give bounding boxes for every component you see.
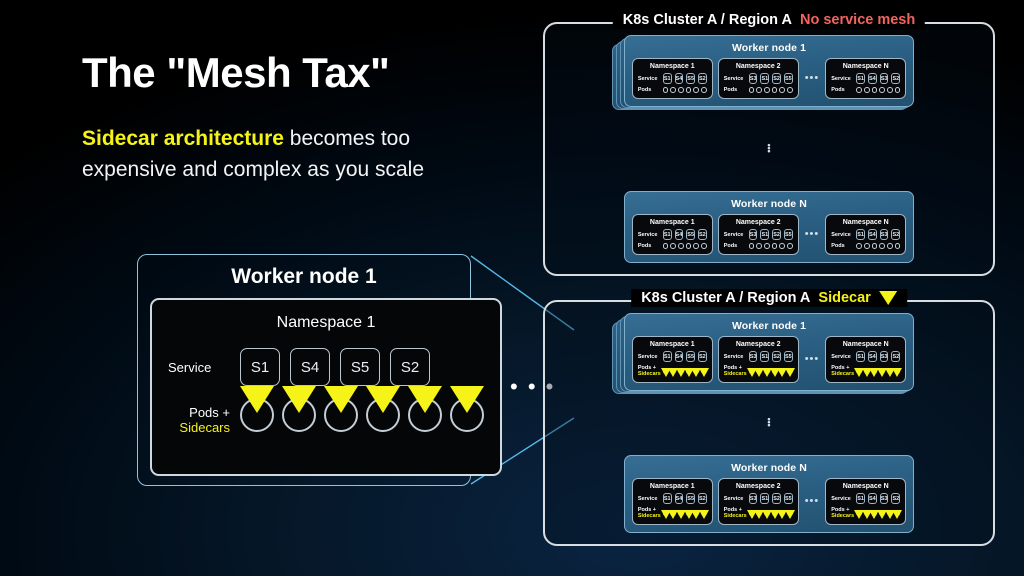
cluster-title: K8s Cluster A / Region A xyxy=(641,290,810,306)
service-chip[interactable]: S1 xyxy=(663,493,672,504)
pod-with-sidecar xyxy=(787,510,793,516)
namespace-title: Namespace N xyxy=(831,63,900,70)
pod xyxy=(764,87,770,93)
pods-label: Pods xyxy=(638,243,660,249)
service-chip[interactable]: S4 xyxy=(290,348,330,386)
service-chip[interactable]: S1 xyxy=(760,493,769,504)
service-chip[interactable]: S5 xyxy=(686,229,695,240)
service-row: ServiceS1S4S5S2 xyxy=(638,229,707,240)
cluster-tag: No service mesh xyxy=(800,12,915,28)
pod-with-sidecar xyxy=(366,398,400,432)
service-chip[interactable]: S2 xyxy=(891,351,900,362)
pods-label: Pods xyxy=(724,87,746,93)
pod xyxy=(693,243,699,249)
cluster-frame: K8s Cluster A / Region ANo service meshW… xyxy=(543,22,995,276)
pods-label-sidecars: Sidecars xyxy=(638,513,660,519)
detail-namespace-title: Namespace 1 xyxy=(168,314,484,332)
worker-node-title: Worker node 1 xyxy=(632,318,906,336)
subtitle: Sidecar architecture becomes too expensi… xyxy=(82,124,472,185)
namespace-title: Namespace N xyxy=(831,483,900,490)
cluster-label: K8s Cluster A / Region ANo service mesh xyxy=(613,11,925,29)
cluster-label: K8s Cluster A / Region ASidecar xyxy=(631,289,907,307)
service-chip[interactable]: S2 xyxy=(772,73,781,84)
service-chip[interactable]: S4 xyxy=(868,351,877,362)
namespace-box: Namespace 1ServiceS1S4S5S2Pods +Sidecars xyxy=(632,336,713,383)
pod xyxy=(686,87,692,93)
namespace-title: Namespace N xyxy=(831,219,900,226)
service-label: Service xyxy=(724,232,746,238)
namespace-box: Namespace 2ServiceS3S1S2S5Pods xyxy=(718,58,799,99)
pod-list xyxy=(663,87,707,93)
service-chip[interactable]: S1 xyxy=(856,229,865,240)
pod xyxy=(879,243,885,249)
detail-service-label: Service xyxy=(168,360,230,375)
service-chip[interactable]: S3 xyxy=(880,229,889,240)
pod-with-sidecar xyxy=(895,510,901,516)
pods-label: Pods xyxy=(831,243,853,249)
service-chip[interactable]: S2 xyxy=(772,493,781,504)
pod-with-sidecar xyxy=(240,398,274,432)
cluster-title: K8s Cluster A / Region A xyxy=(623,12,792,28)
pods-label: Pods xyxy=(831,87,853,93)
pod xyxy=(787,87,793,93)
detail-callout-panel: Worker node 1 Namespace 1 Service S1 S4 … xyxy=(137,254,471,486)
service-chip[interactable]: S1 xyxy=(663,351,672,362)
service-chip[interactable]: S1 xyxy=(663,73,672,84)
namespace-title: Namespace 1 xyxy=(638,219,707,226)
pod-list xyxy=(749,87,793,93)
service-chip[interactable]: S5 xyxy=(340,348,380,386)
service-row: ServiceS1S4S3S2 xyxy=(831,229,900,240)
cluster-tag: Sidecar xyxy=(818,290,870,306)
service-chip[interactable]: S4 xyxy=(675,493,684,504)
namespace-row: Namespace 1ServiceS1S4S5S2Pods +Sidecars… xyxy=(632,478,906,525)
pods-row: Pods xyxy=(831,243,900,249)
pod xyxy=(887,243,893,249)
service-chip[interactable]: S1 xyxy=(760,73,769,84)
service-chip[interactable]: S5 xyxy=(784,229,793,240)
service-row: ServiceS1S4S3S2 xyxy=(831,351,900,362)
service-label: Service xyxy=(831,232,853,238)
service-row: ServiceS1S4S3S2 xyxy=(831,73,900,84)
service-label: Service xyxy=(724,354,746,360)
service-chip[interactable]: S3 xyxy=(880,351,889,362)
service-chip[interactable]: S2 xyxy=(390,348,430,386)
pod xyxy=(779,243,785,249)
pod-list xyxy=(856,243,900,249)
service-chip[interactable]: S4 xyxy=(868,493,877,504)
cluster-frame: K8s Cluster A / Region ASidecarWorker no… xyxy=(543,300,995,546)
pod xyxy=(693,87,699,93)
pod-list xyxy=(856,368,900,374)
pods-label-sidecars: Sidecars xyxy=(168,421,230,436)
namespace-title: Namespace 1 xyxy=(638,341,707,348)
worker-node-overflow-dots: ••• xyxy=(559,413,979,433)
detail-namespace-box: Namespace 1 Service S1 S4 S5 S2 Pods +Si… xyxy=(150,298,502,476)
pod-with-sidecar xyxy=(701,510,707,516)
subtitle-highlight: Sidecar architecture xyxy=(82,127,284,150)
title-block: The "Mesh Tax" Sidecar architecture beco… xyxy=(82,50,502,185)
service-label: Service xyxy=(638,496,660,502)
service-chip[interactable]: S4 xyxy=(868,229,877,240)
pods-label: Pods +Sidecars xyxy=(724,507,746,519)
service-row: ServiceS1S4S3S2 xyxy=(831,493,900,504)
namespace-overflow-dots: ••• xyxy=(804,496,821,507)
pods-row: Pods xyxy=(831,87,900,93)
service-chip[interactable]: S5 xyxy=(686,493,695,504)
detail-pods-row: Pods +Sidecars xyxy=(168,398,484,436)
pods-label-sidecars: Sidecars xyxy=(638,371,660,377)
pod-with-sidecar xyxy=(324,398,358,432)
worker-node-panel: Worker node 1Namespace 1ServiceS1S4S5S2P… xyxy=(624,35,914,107)
namespace-box: Namespace NServiceS1S4S3S2Pods xyxy=(825,214,906,255)
pods-label-sidecars: Sidecars xyxy=(724,371,746,377)
pods-row: Pods +Sidecars xyxy=(724,365,793,377)
pod-list xyxy=(856,510,900,516)
service-chip[interactable]: S1 xyxy=(856,73,865,84)
namespace-title: Namespace 1 xyxy=(638,63,707,70)
namespace-row: Namespace 1ServiceS1S4S5S2PodsNamespace … xyxy=(632,58,906,99)
service-chip[interactable]: S2 xyxy=(772,229,781,240)
service-chip[interactable]: S5 xyxy=(784,493,793,504)
pod xyxy=(772,87,778,93)
pod xyxy=(887,87,893,93)
namespace-row: Namespace 1ServiceS1S4S5S2PodsNamespace … xyxy=(632,214,906,255)
namespace-box: Namespace 2ServiceS3S1S2S5Pods +Sidecars xyxy=(718,336,799,383)
pods-label: Pods +Sidecars xyxy=(638,365,660,377)
service-row: ServiceS3S1S2S5 xyxy=(724,493,793,504)
pod xyxy=(879,87,885,93)
namespace-box: Namespace 1ServiceS1S4S5S2Pods xyxy=(632,214,713,255)
pod-with-sidecar xyxy=(787,368,793,374)
namespace-box: Namespace 1ServiceS1S4S5S2Pods xyxy=(632,58,713,99)
pods-label: Pods xyxy=(638,87,660,93)
pod xyxy=(772,243,778,249)
pod-with-sidecar xyxy=(450,398,484,432)
pods-label: Pods +Sidecars xyxy=(831,507,853,519)
detail-pod-list xyxy=(240,398,484,432)
service-chip[interactable]: S1 xyxy=(240,348,280,386)
namespace-title: Namespace 2 xyxy=(724,341,793,348)
worker-node-title: Worker node 1 xyxy=(632,40,906,58)
service-label: Service xyxy=(638,232,660,238)
pod xyxy=(670,87,676,93)
service-chip[interactable]: S1 xyxy=(856,351,865,362)
service-label: Service xyxy=(638,354,660,360)
service-chip[interactable]: S2 xyxy=(772,351,781,362)
service-label: Service xyxy=(831,354,853,360)
service-chip[interactable]: S5 xyxy=(686,73,695,84)
page-title: The "Mesh Tax" xyxy=(82,50,502,96)
service-label: Service xyxy=(638,76,660,82)
worker-node-panel: Worker node NNamespace 1ServiceS1S4S5S2P… xyxy=(624,455,914,533)
namespace-overflow-dots: ••• xyxy=(804,229,821,240)
service-chip[interactable]: S3 xyxy=(749,229,758,240)
pods-row: Pods +Sidecars xyxy=(831,507,900,519)
namespace-box: Namespace 1ServiceS1S4S5S2Pods +Sidecars xyxy=(632,478,713,525)
service-chip[interactable]: S2 xyxy=(698,493,707,504)
service-label: Service xyxy=(831,76,853,82)
pod xyxy=(663,243,669,249)
pods-label-sidecars: Sidecars xyxy=(724,513,746,519)
pod-list xyxy=(749,510,793,516)
pod xyxy=(701,87,707,93)
triangle-down-icon xyxy=(879,291,897,305)
pod xyxy=(749,87,755,93)
service-chip[interactable]: S3 xyxy=(749,493,758,504)
detail-node-title: Worker node 1 xyxy=(150,265,458,298)
pod xyxy=(787,243,793,249)
worker-node-wrapper: Worker node NNamespace 1ServiceS1S4S5S2P… xyxy=(624,455,914,533)
service-row: ServiceS3S1S2S5 xyxy=(724,229,793,240)
service-label: Service xyxy=(831,496,853,502)
pod xyxy=(678,87,684,93)
pod-with-sidecar xyxy=(895,368,901,374)
pod-list xyxy=(663,243,707,249)
worker-node-wrapper: Worker node NNamespace 1ServiceS1S4S5S2P… xyxy=(624,191,914,263)
pod xyxy=(872,87,878,93)
pods-row: Pods xyxy=(638,243,707,249)
pods-label: Pods +Sidecars xyxy=(638,507,660,519)
namespace-title: Namespace 2 xyxy=(724,219,793,226)
worker-node-panel: Worker node 1Namespace 1ServiceS1S4S5S2P… xyxy=(624,313,914,391)
pods-label-sidecars: Sidecars xyxy=(831,513,853,519)
pods-label-main: Pods + xyxy=(189,405,230,420)
namespace-box: Namespace NServiceS1S4S3S2Pods xyxy=(825,58,906,99)
detail-body: Namespace 1 Service S1 S4 S5 S2 Pods +Si… xyxy=(150,298,458,476)
detail-pods-label: Pods +Sidecars xyxy=(168,398,230,436)
cluster-body: Worker node 1Namespace 1ServiceS1S4S5S2P… xyxy=(559,313,979,533)
pod xyxy=(756,243,762,249)
service-chip[interactable]: S3 xyxy=(749,73,758,84)
service-chip[interactable]: S3 xyxy=(880,73,889,84)
pod-with-sidecar xyxy=(408,398,442,432)
pod xyxy=(895,243,901,249)
service-chip[interactable]: S2 xyxy=(698,229,707,240)
namespace-title: Namespace N xyxy=(831,341,900,348)
service-chip[interactable]: S5 xyxy=(686,351,695,362)
namespace-box: Namespace NServiceS1S4S3S2Pods +Sidecars xyxy=(825,478,906,525)
namespace-title: Namespace 2 xyxy=(724,483,793,490)
pods-row: Pods xyxy=(724,243,793,249)
worker-node-overflow-dots: ••• xyxy=(559,139,979,159)
namespace-overflow-dots: ••• xyxy=(804,73,821,84)
pod xyxy=(856,87,862,93)
pod xyxy=(895,87,901,93)
service-chip[interactable]: S5 xyxy=(784,73,793,84)
pod xyxy=(764,243,770,249)
worker-node-title: Worker node N xyxy=(632,460,906,478)
pod-list xyxy=(663,510,707,516)
service-chip[interactable]: S3 xyxy=(749,351,758,362)
pod xyxy=(670,243,676,249)
worker-node-title: Worker node N xyxy=(632,196,906,214)
pods-row: Pods +Sidecars xyxy=(831,365,900,377)
pod-list xyxy=(856,87,900,93)
pods-row: Pods xyxy=(724,87,793,93)
service-chip[interactable]: S4 xyxy=(868,73,877,84)
service-chip[interactable]: S5 xyxy=(784,351,793,362)
service-chip[interactable]: S1 xyxy=(663,229,672,240)
worker-node-panel: Worker node NNamespace 1ServiceS1S4S5S2P… xyxy=(624,191,914,263)
pod xyxy=(663,87,669,93)
namespace-box: Namespace 2ServiceS3S1S2S5Pods xyxy=(718,214,799,255)
pod xyxy=(856,243,862,249)
service-row: ServiceS1S4S5S2 xyxy=(638,351,707,362)
service-chip[interactable]: S2 xyxy=(698,351,707,362)
pods-row: Pods +Sidecars xyxy=(724,507,793,519)
pods-label: Pods +Sidecars xyxy=(724,365,746,377)
cluster-body: Worker node 1Namespace 1ServiceS1S4S5S2P… xyxy=(559,35,979,263)
service-chip[interactable]: S1 xyxy=(760,351,769,362)
service-chip[interactable]: S2 xyxy=(891,493,900,504)
service-row: ServiceS1S4S5S2 xyxy=(638,73,707,84)
service-chip[interactable]: S4 xyxy=(675,351,684,362)
pod xyxy=(864,87,870,93)
slide-canvas: The "Mesh Tax" Sidecar architecture beco… xyxy=(0,0,1024,576)
namespace-title: Namespace 2 xyxy=(724,63,793,70)
pod xyxy=(872,243,878,249)
pods-row: Pods +Sidecars xyxy=(638,365,707,377)
service-chip[interactable]: S4 xyxy=(675,73,684,84)
pod xyxy=(779,87,785,93)
detail-service-row: Service S1 S4 S5 S2 xyxy=(168,348,484,386)
pod xyxy=(686,243,692,249)
pods-label: Pods +Sidecars xyxy=(831,365,853,377)
service-row: ServiceS3S1S2S5 xyxy=(724,73,793,84)
pod xyxy=(749,243,755,249)
namespace-box: Namespace NServiceS1S4S3S2Pods +Sidecars xyxy=(825,336,906,383)
service-chip[interactable]: S3 xyxy=(880,493,889,504)
namespace-row: Namespace 1ServiceS1S4S5S2Pods +Sidecars… xyxy=(632,336,906,383)
service-label: Service xyxy=(724,496,746,502)
service-chip[interactable]: S2 xyxy=(698,73,707,84)
pods-label: Pods xyxy=(724,243,746,249)
pods-label-sidecars: Sidecars xyxy=(831,371,853,377)
namespace-overflow-dots: ••• xyxy=(804,354,821,365)
pod-with-sidecar xyxy=(701,368,707,374)
pods-row: Pods xyxy=(638,87,707,93)
pods-row: Pods +Sidecars xyxy=(638,507,707,519)
worker-node-wrapper: Worker node 1Namespace 1ServiceS1S4S5S2P… xyxy=(624,35,914,107)
pod-list xyxy=(663,368,707,374)
service-label: Service xyxy=(724,76,746,82)
pod xyxy=(864,243,870,249)
worker-node-wrapper: Worker node 1Namespace 1ServiceS1S4S5S2P… xyxy=(624,313,914,391)
pod-list xyxy=(749,243,793,249)
service-chip[interactable]: S1 xyxy=(760,229,769,240)
pod-with-sidecar xyxy=(282,398,316,432)
service-chip[interactable]: S2 xyxy=(891,73,900,84)
service-row: ServiceS1S4S5S2 xyxy=(638,493,707,504)
pod xyxy=(756,87,762,93)
namespace-box: Namespace 2ServiceS3S1S2S5Pods +Sidecars xyxy=(718,478,799,525)
service-chip[interactable]: S2 xyxy=(891,229,900,240)
namespace-title: Namespace 1 xyxy=(638,483,707,490)
pod xyxy=(678,243,684,249)
service-chip[interactable]: S4 xyxy=(675,229,684,240)
service-chip[interactable]: S1 xyxy=(856,493,865,504)
service-row: ServiceS3S1S2S5 xyxy=(724,351,793,362)
pod xyxy=(701,243,707,249)
pod-list xyxy=(749,368,793,374)
